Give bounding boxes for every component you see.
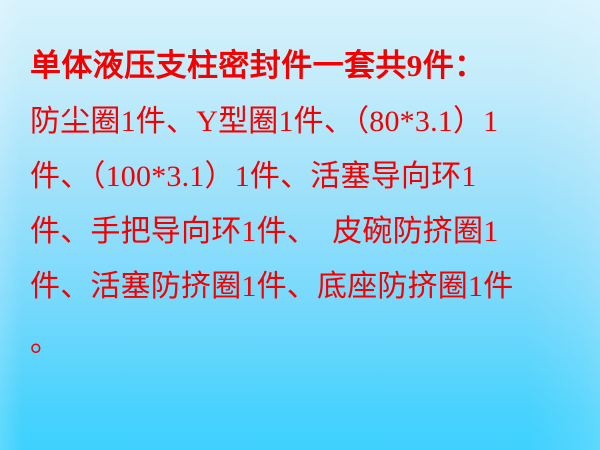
slide-body-line-3: 件、手把导向环1件、 皮碗防挤圈1 xyxy=(30,204,586,259)
slide-body-line-5: 。 xyxy=(30,314,586,369)
slide-body-line-2: 件、（100*3.1）1件、活塞导向环1 xyxy=(30,149,586,204)
slide-canvas: 单体液压支柱密封件一套共9件： 防尘圈1件、Y型圈1件、（80*3.1）1 件、… xyxy=(0,0,600,450)
slide-title: 单体液压支柱密封件一套共9件： xyxy=(30,38,586,94)
slide-body-line-1: 防尘圈1件、Y型圈1件、（80*3.1）1 xyxy=(30,94,586,149)
slide-body-line-4: 件、活塞防挤圈1件、底座防挤圈1件 xyxy=(30,259,586,314)
slide-text-block: 单体液压支柱密封件一套共9件： 防尘圈1件、Y型圈1件、（80*3.1）1 件、… xyxy=(30,38,586,369)
